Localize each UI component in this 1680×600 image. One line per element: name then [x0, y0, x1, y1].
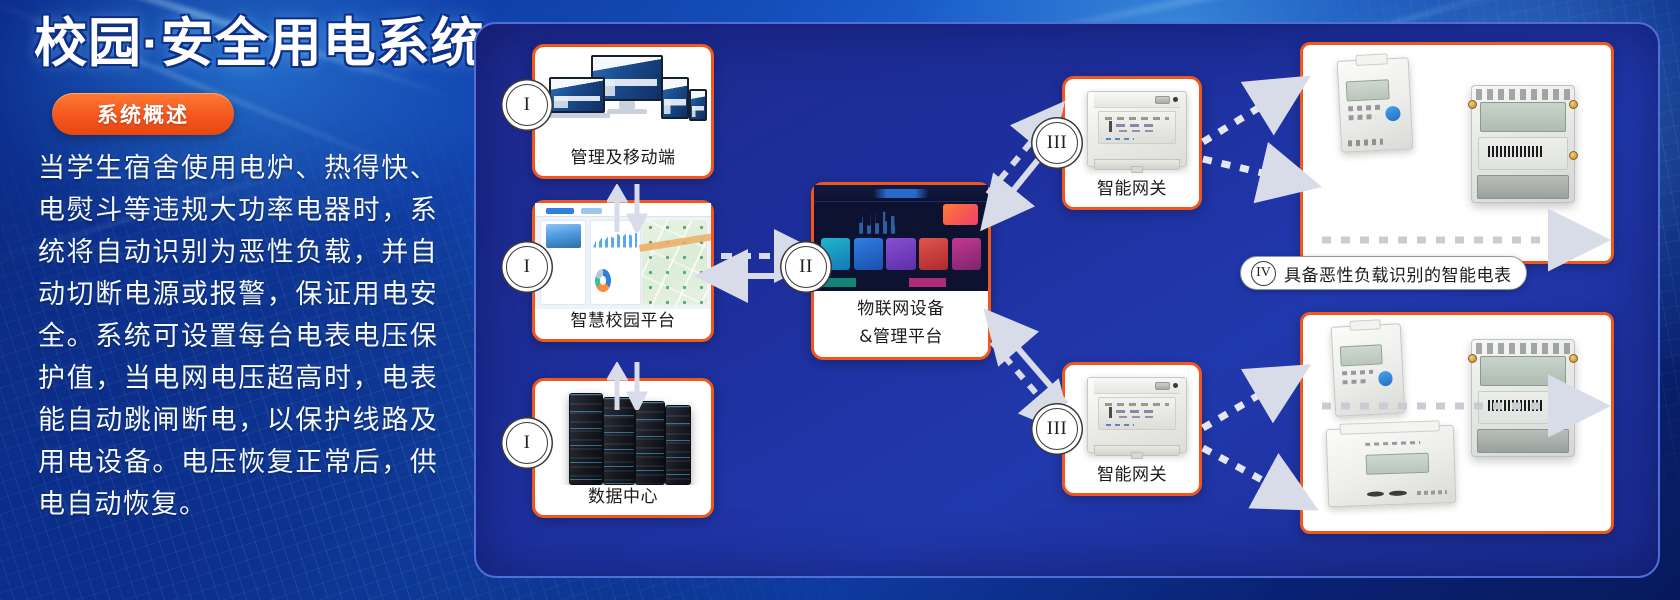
- page-title: 校园·安全用电系统: [34, 16, 454, 72]
- numeral-badge-gateway-bottom: III: [1036, 408, 1078, 450]
- system-description: 当学生宿舍使用电炉、热得快、电熨斗等违规大功率电器时，系统将自动识别为恶性负载，…: [38, 148, 438, 526]
- system-overview-badge: 系统概述: [52, 93, 234, 135]
- intro-column: 校园·安全用电系统 系统概述 当学生宿舍使用电炉、热得快、电熨斗等违规大功率电器…: [0, 0, 470, 600]
- connector-gateway-bottom-to-meter-b: [1203, 448, 1288, 494]
- numeral-badge-iot-platform: II: [785, 246, 827, 288]
- smart-meters-label-pill: IV 具备恶性负载识别的智能电表: [1240, 256, 1527, 290]
- numeral-badge-smart-campus: I: [506, 246, 548, 288]
- architecture-diagram-panel: 管理及移动端 I 智慧校园平台 I: [474, 22, 1660, 578]
- connector-gateway-top-to-meter-a: [1203, 94, 1281, 142]
- node-label-smart-meters: 具备恶性负载识别的智能电表: [1284, 261, 1512, 286]
- system-overview-badge-label: 系统概述: [97, 99, 189, 129]
- connector-campus-datacenter-arrows: [607, 362, 651, 410]
- numeral-badge-gateway-top: III: [1036, 122, 1078, 164]
- numeral-badge-smart-meters: IV: [1251, 261, 1276, 286]
- numeral-badge-data-center: I: [506, 422, 548, 464]
- connector-gateway-bottom-to-meter-a: [1203, 382, 1281, 428]
- connector-admin-campus-arrows: [607, 184, 651, 232]
- connector-gateway-top-to-meter-b: [1203, 159, 1288, 179]
- connector-layer: [476, 24, 1660, 578]
- numeral-badge-admin-mobile: I: [506, 84, 548, 126]
